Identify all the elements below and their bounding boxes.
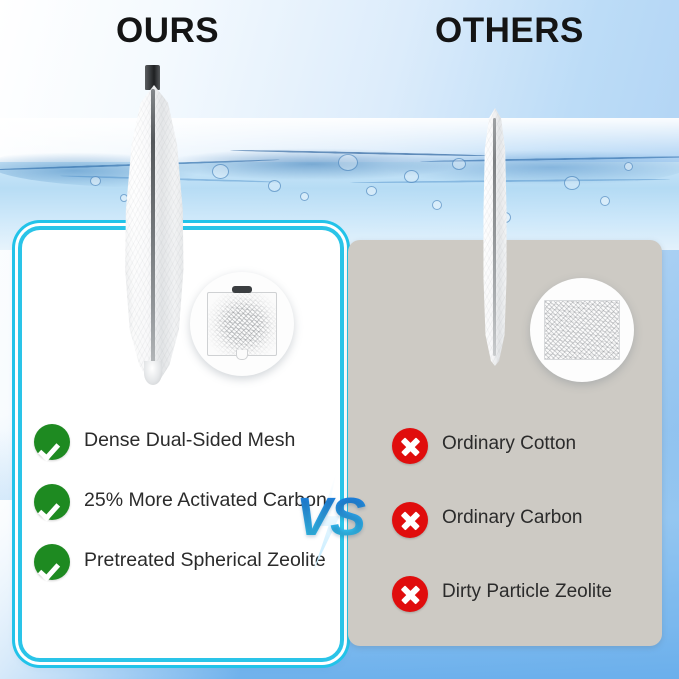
vs-badge: VS — [296, 478, 380, 566]
cartridge-clip — [145, 65, 160, 90]
feature-label: Pretreated Spherical Zeolite — [84, 544, 326, 573]
feature-label: Dirty Particle Zeolite — [442, 576, 612, 605]
magnified-media-ours — [190, 272, 294, 376]
pad-clip-icon — [232, 286, 252, 293]
bubble-icon — [90, 176, 101, 186]
red-cross-icon — [392, 428, 428, 464]
red-cross-icon — [392, 502, 428, 538]
filter-pad-others — [544, 300, 620, 360]
bubble-icon — [404, 170, 419, 183]
list-item: Pretreated Spherical Zeolite — [34, 544, 334, 580]
list-item: Ordinary Cotton — [392, 428, 662, 464]
green-check-icon — [34, 424, 70, 460]
feature-label: 25% More Activated Carbon — [84, 484, 327, 513]
bubble-icon — [452, 158, 466, 170]
magnified-media-others — [530, 278, 634, 382]
filter-cartridge-others — [472, 108, 518, 366]
feature-list-ours: Dense Dual-Sided Mesh 25% More Activated… — [34, 424, 334, 604]
feature-label: Ordinary Carbon — [442, 502, 582, 531]
list-item: Dense Dual-Sided Mesh — [34, 424, 334, 460]
page-title-ours: OURS — [116, 13, 219, 48]
cartridge-seam — [151, 89, 155, 377]
pad-texture — [208, 293, 276, 355]
red-cross-icon — [392, 576, 428, 612]
green-check-icon — [34, 544, 70, 580]
bubble-icon — [432, 200, 442, 210]
cartridge-tip — [144, 361, 162, 385]
filter-pad-ours — [207, 292, 277, 356]
pad-texture — [545, 301, 619, 359]
bubble-icon — [600, 196, 610, 206]
water-top-fade — [0, 118, 679, 158]
feature-label: Dense Dual-Sided Mesh — [84, 424, 295, 453]
bubble-icon — [300, 192, 309, 201]
bubble-icon — [624, 162, 633, 171]
bubble-icon — [212, 164, 229, 179]
feature-list-others: Ordinary Cotton Ordinary Carbon Dirty Pa… — [392, 428, 662, 650]
list-item: Ordinary Carbon — [392, 502, 662, 538]
bubble-icon — [366, 186, 377, 196]
vs-label: VS — [296, 490, 380, 544]
list-item: 25% More Activated Carbon — [34, 484, 334, 520]
filter-cartridge-ours — [108, 65, 200, 385]
pad-notch — [236, 350, 248, 360]
page-title-others: OTHERS — [435, 13, 584, 48]
cartridge-seam — [493, 118, 496, 356]
comparison-infographic: OURS OTHERS Dense Dual-Side — [0, 0, 679, 679]
bubble-icon — [268, 180, 281, 192]
feature-label: Ordinary Cotton — [442, 428, 576, 457]
bubble-icon — [564, 176, 580, 190]
list-item: Dirty Particle Zeolite — [392, 576, 662, 612]
green-check-icon — [34, 484, 70, 520]
